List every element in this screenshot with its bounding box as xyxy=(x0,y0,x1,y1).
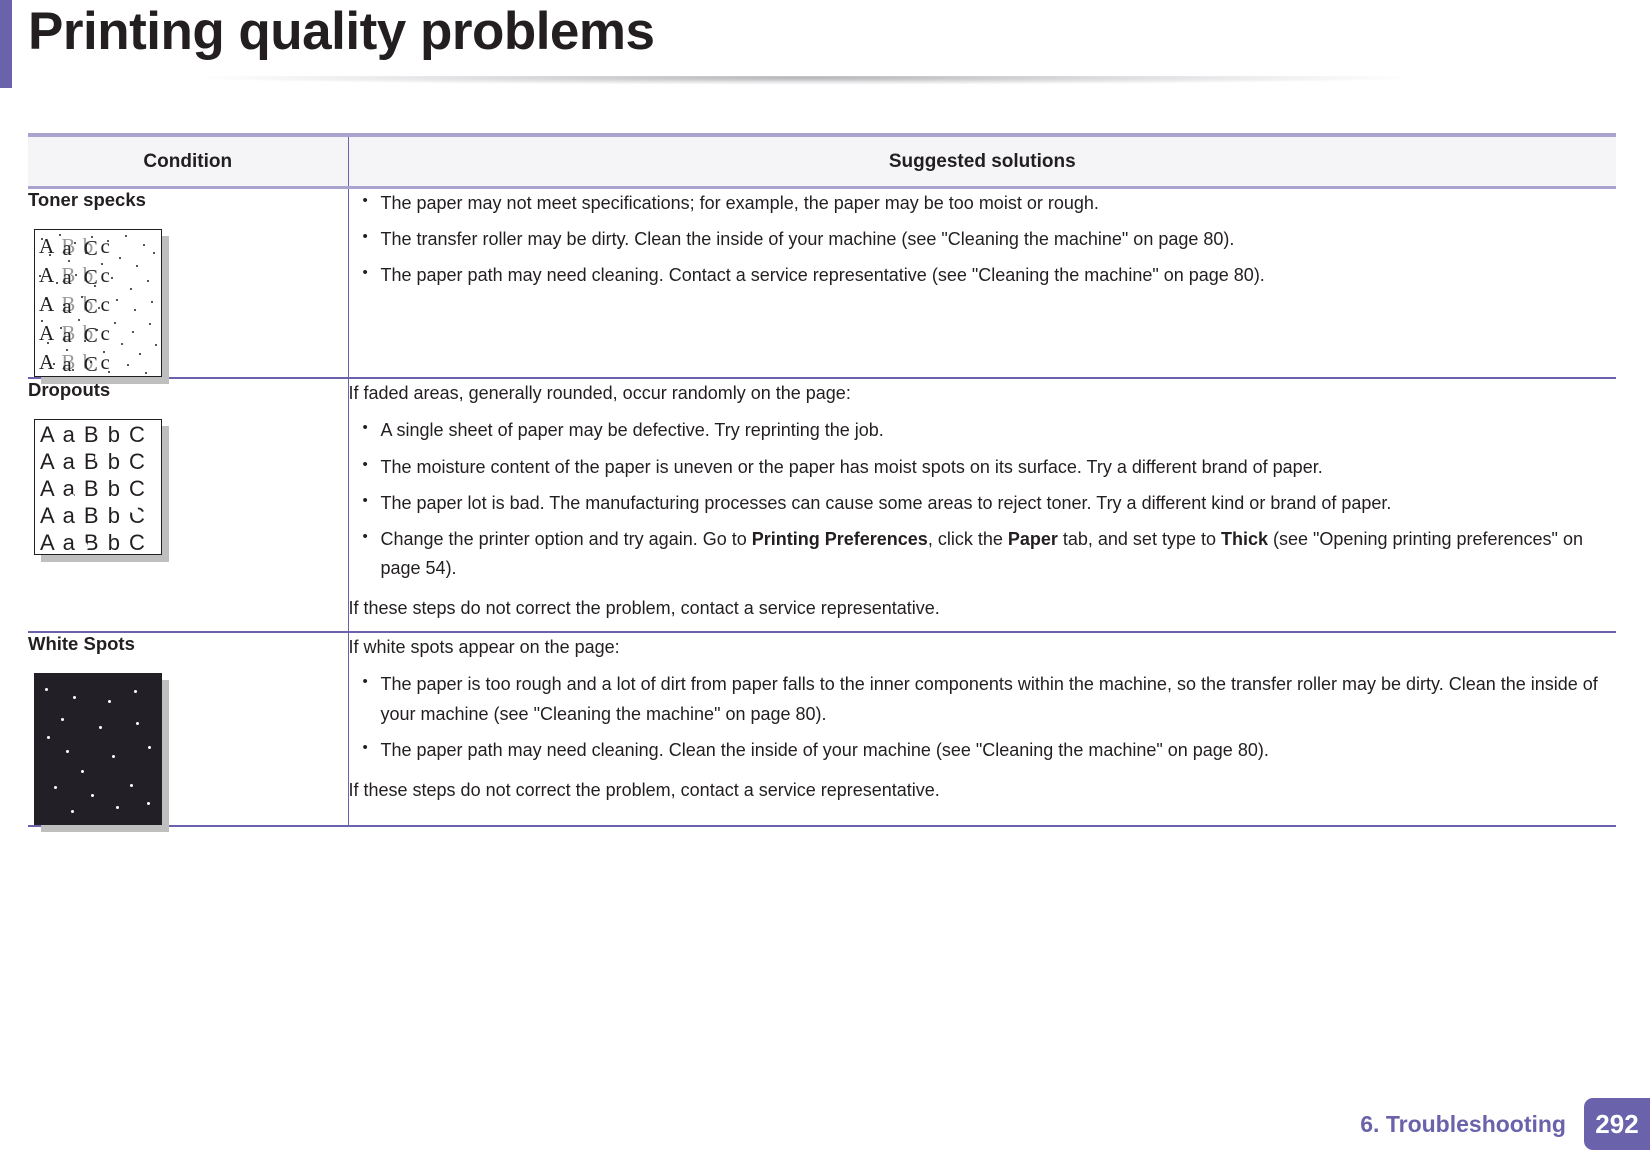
page-title: Printing quality problems xyxy=(28,2,655,63)
solutions-cell-dropouts: If faded areas, generally rounded, occur… xyxy=(348,378,1616,632)
condition-label: White Spots xyxy=(28,633,348,655)
table-row: White Spots xyxy=(28,632,1616,826)
solutions-outro: If these steps do not correct the proble… xyxy=(349,594,1617,623)
list-item: A single sheet of paper may be defective… xyxy=(349,416,1617,445)
solutions-bullet-list: The paper may not meet specifications; f… xyxy=(349,189,1617,290)
list-item: The paper path may need cleaning. Clean … xyxy=(349,736,1617,765)
condition-cell-toner-specks: Toner specks A Ba bC c A Ba bC c A Ba bC… xyxy=(28,188,348,379)
table-row: Toner specks A Ba bC c A Ba bC c A Ba bC… xyxy=(28,188,1616,379)
column-header-condition: Condition xyxy=(28,135,348,188)
dropouts-sample: A a B b CA a B b CA a B b CA a B b CA a … xyxy=(34,419,162,555)
table-header-row: Condition Suggested solutions xyxy=(28,135,1616,188)
list-item: The paper path may need cleaning. Contac… xyxy=(349,261,1617,290)
list-item: The moisture content of the paper is une… xyxy=(349,453,1617,482)
printing-quality-table: Condition Suggested solutions Toner spec… xyxy=(28,133,1616,827)
footer-chapter-label: 6. Troubleshooting xyxy=(1360,1111,1566,1138)
bullet-text-mid1: , click the xyxy=(928,529,1008,549)
solutions-cell-white-spots: If white spots appear on the page: The p… xyxy=(348,632,1616,826)
condition-cell-white-spots: White Spots xyxy=(28,632,348,826)
bold-printing-preferences: Printing Preferences xyxy=(752,529,928,549)
sample-page: A Ba bC c A Ba bC c A Ba bC c A Ba bC c … xyxy=(34,229,162,377)
bold-paper: Paper xyxy=(1008,529,1058,549)
condition-cell-dropouts: Dropouts A a B b CA a B b CA a B b CA a … xyxy=(28,378,348,632)
sample-page: A a B b CA a B b CA a B b CA a B b CA a … xyxy=(34,419,162,555)
solutions-bullet-list: A single sheet of paper may be defective… xyxy=(349,416,1617,583)
table-row: Dropouts A a B b CA a B b CA a B b CA a … xyxy=(28,378,1616,632)
sample-page xyxy=(34,673,162,825)
list-item-printing-preferences: Change the printer option and try again.… xyxy=(349,525,1617,583)
condition-label: Toner specks xyxy=(28,189,348,211)
sample-text-line: A a B b CA a B b CA a B b CA a B b CA a … xyxy=(40,422,146,555)
bullet-text-mid2: tab, and set type to xyxy=(1058,529,1221,549)
solutions-outro: If these steps do not correct the proble… xyxy=(349,776,1617,805)
list-item: The paper lot is bad. The manufacturing … xyxy=(349,489,1617,518)
list-item: The transfer roller may be dirty. Clean … xyxy=(349,225,1617,254)
white-spots-sample xyxy=(34,673,162,825)
column-header-solutions: Suggested solutions xyxy=(348,135,1616,188)
list-item: The paper is too rough and a lot of dirt… xyxy=(349,670,1617,728)
list-item: The paper may not meet specifications; f… xyxy=(349,189,1617,218)
toner-specks-sample: A Ba bC c A Ba bC c A Ba bC c A Ba bC c … xyxy=(34,229,162,377)
bullet-text-prefix: Change the printer option and try again.… xyxy=(381,529,752,549)
title-underline-shadow xyxy=(20,76,1590,94)
white-spot-dots xyxy=(35,674,161,824)
solutions-intro: If faded areas, generally rounded, occur… xyxy=(349,379,1617,408)
solutions-bullet-list: The paper is too rough and a lot of dirt… xyxy=(349,670,1617,764)
page-footer: 6. Troubleshooting 292 xyxy=(1360,1098,1650,1150)
solutions-cell-toner-specks: The paper may not meet specifications; f… xyxy=(348,188,1616,379)
toner-speck-dots xyxy=(35,230,161,376)
solutions-intro: If white spots appear on the page: xyxy=(349,633,1617,662)
title-accent-bar xyxy=(0,0,12,88)
bold-thick: Thick xyxy=(1221,529,1268,549)
footer-page-number: 292 xyxy=(1584,1098,1650,1150)
